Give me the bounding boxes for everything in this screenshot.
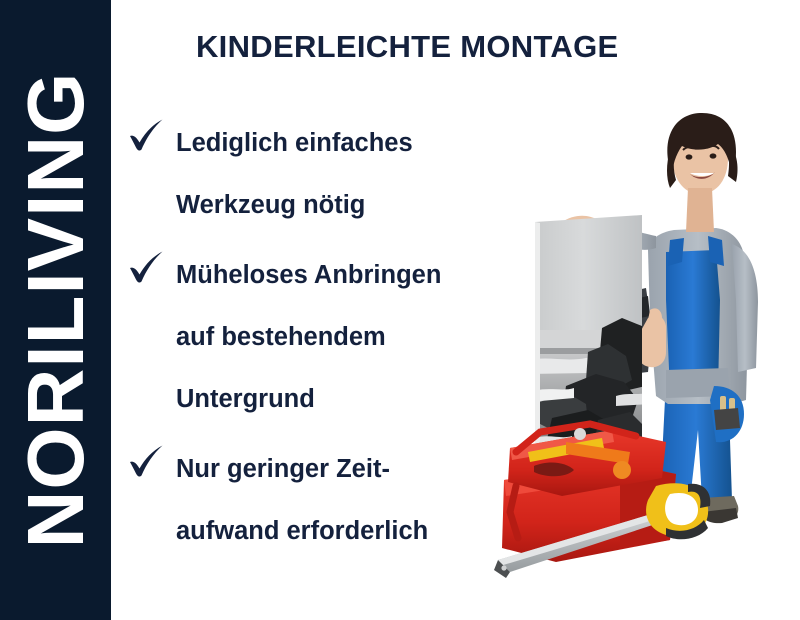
- list-item: Nur geringer Zeit- aufwand erforderlich: [126, 438, 526, 562]
- checkmark-icon: [126, 442, 168, 482]
- list-item: Lediglich einfaches Werkzeug nötig: [126, 112, 526, 236]
- checkmark-icon: [126, 116, 168, 156]
- list-item: Müheloses Anbringen auf bestehendem Unte…: [126, 244, 526, 430]
- brand-sidebar: NORILIVING: [0, 0, 111, 620]
- eye-left: [686, 154, 693, 159]
- promo-banner: NORILIVING KINDERLEICHTE MONTAGE Ledigli…: [0, 0, 800, 620]
- product-photo: [470, 0, 800, 620]
- brand-name: NORILIVING: [16, 72, 96, 549]
- checkmark-icon: [126, 248, 168, 288]
- strap-right: [708, 236, 724, 266]
- neck: [686, 188, 714, 232]
- strap-left: [668, 238, 684, 266]
- feature-list: Lediglich einfaches Werkzeug nötig Mühel…: [126, 112, 526, 562]
- eye-right: [710, 153, 717, 158]
